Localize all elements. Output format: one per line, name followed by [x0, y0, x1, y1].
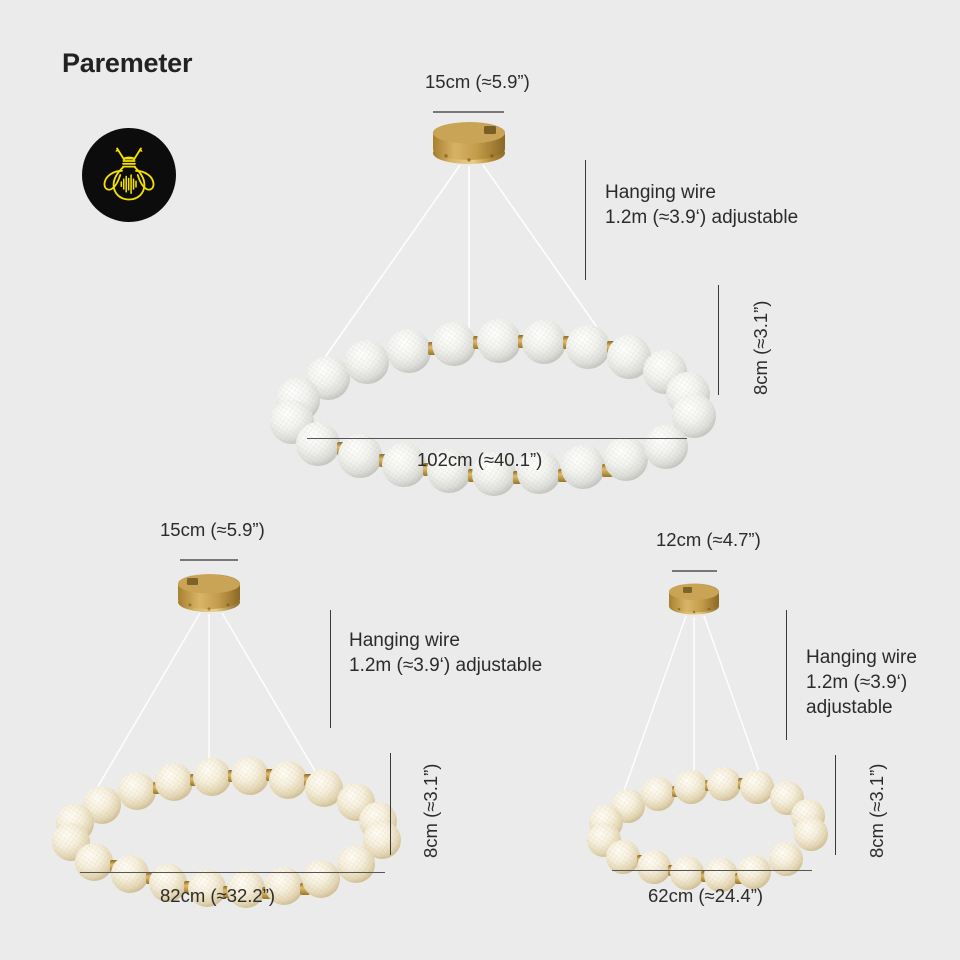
canopy-small — [669, 584, 719, 615]
chandelier-large: 15cm (≈5.9”) — [270, 70, 830, 470]
height-rule-large — [718, 285, 719, 395]
width-rule-small — [612, 870, 812, 871]
bee-bulb-icon — [94, 140, 164, 210]
canopy-large — [433, 122, 505, 164]
page-title: Paremeter — [62, 48, 192, 79]
height-label-small: 8cm (≈3.1”) — [866, 764, 888, 858]
spec-sheet: Paremeter — [0, 0, 960, 960]
chandelier-large-art — [270, 70, 830, 470]
wire-note-line-2: 1.2m (≈3.9‘) — [806, 670, 917, 695]
wire-note-line-1: Hanging wire — [806, 645, 917, 670]
wire-note-rule-large — [585, 160, 586, 280]
canopy-medium — [178, 574, 240, 612]
wire-note-line-1: Hanging wire — [349, 628, 542, 653]
width-label-small: 62cm (≈24.4”) — [648, 884, 763, 909]
chandelier-small: 12cm (≈4.7”) — [590, 510, 960, 930]
wire-note-line-2: 1.2m (≈3.9‘) adjustable — [605, 205, 798, 230]
height-rule-small — [835, 755, 836, 855]
wire-note-line-1: Hanging wire — [605, 180, 798, 205]
wire-note-line-2: 1.2m (≈3.9‘) adjustable — [349, 653, 542, 678]
chandelier-medium-art — [50, 510, 550, 930]
width-rule-large — [307, 438, 687, 439]
width-label-medium: 82cm (≈32.2”) — [160, 884, 275, 909]
height-rule-medium — [390, 753, 391, 855]
wire-note-small: Hanging wire 1.2m (≈3.9‘) adjustable — [806, 645, 917, 720]
height-label-large: 8cm (≈3.1”) — [750, 301, 772, 395]
wire-note-medium: Hanging wire 1.2m (≈3.9‘) adjustable — [349, 628, 542, 678]
bead-ring-small — [587, 767, 828, 892]
width-rule-medium — [80, 872, 385, 873]
chandelier-medium: 15cm (≈5.9”) — [50, 510, 550, 930]
wire-note-line-3: adjustable — [806, 695, 917, 720]
width-label-large: 102cm (≈40.1”) — [417, 448, 542, 473]
height-label-medium: 8cm (≈3.1”) — [420, 764, 442, 858]
bee-bulb-logo — [82, 128, 176, 222]
wire-note-large: Hanging wire 1.2m (≈3.9‘) adjustable — [605, 180, 798, 230]
wire-note-rule-medium — [330, 610, 331, 728]
wire-note-rule-small — [786, 610, 787, 740]
